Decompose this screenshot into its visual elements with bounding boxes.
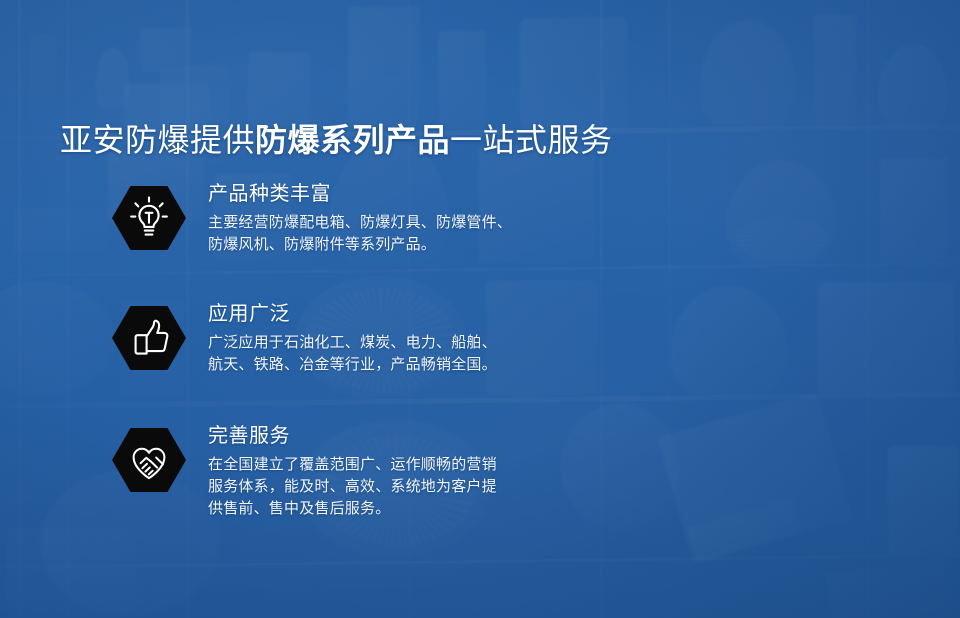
lightbulb-icon	[112, 185, 186, 251]
banner-content: 亚安防爆提供防爆系列产品一站式服务	[0, 0, 960, 618]
feature-text: 完善服务 在全国建立了覆盖范围广、运作顺畅的营销 服务体系，能及时、高效、系统地…	[208, 418, 672, 520]
headline-part-3: 一站式服务	[450, 122, 613, 158]
feature-description: 主要经营防爆配电箱、防爆灯具、防爆管件、 防爆风机、防爆附件等系列产品。	[208, 212, 672, 256]
banner-headline: 亚安防爆提供防爆系列产品一站式服务	[60, 120, 613, 160]
promo-banner: 亚安防爆提供防爆系列产品一站式服务	[0, 0, 960, 618]
headline-part-1: 亚安防爆提供	[60, 122, 255, 158]
feature-item: 产品种类丰富 主要经营防爆配电箱、防爆灯具、防爆管件、 防爆风机、防爆附件等系列…	[112, 176, 672, 280]
feature-title: 产品种类丰富	[208, 180, 672, 208]
feature-list: 产品种类丰富 主要经营防爆配电箱、防爆灯具、防爆管件、 防爆风机、防爆附件等系列…	[112, 176, 672, 538]
feature-text: 产品种类丰富 主要经营防爆配电箱、防爆灯具、防爆管件、 防爆风机、防爆附件等系列…	[208, 176, 672, 256]
thumbs-up-icon	[112, 305, 186, 371]
feature-item: 完善服务 在全国建立了覆盖范围广、运作顺畅的营销 服务体系，能及时、高效、系统地…	[112, 418, 672, 522]
headline-part-2-emphasis: 防爆系列产品	[255, 122, 450, 158]
feature-item: 应用广泛 广泛应用于石油化工、煤炭、电力、船舶、 航天、铁路、冶金等行业，产品畅…	[112, 296, 672, 400]
feature-description: 在全国建立了覆盖范围广、运作顺畅的营销 服务体系，能及时、高效、系统地为客户提 …	[208, 454, 672, 520]
feature-text: 应用广泛 广泛应用于石油化工、煤炭、电力、船舶、 航天、铁路、冶金等行业，产品畅…	[208, 296, 672, 376]
feature-title: 应用广泛	[208, 300, 672, 328]
feature-title: 完善服务	[208, 422, 672, 450]
heart-handshake-icon	[112, 427, 186, 493]
feature-description: 广泛应用于石油化工、煤炭、电力、船舶、 航天、铁路、冶金等行业，产品畅销全国。	[208, 332, 672, 376]
